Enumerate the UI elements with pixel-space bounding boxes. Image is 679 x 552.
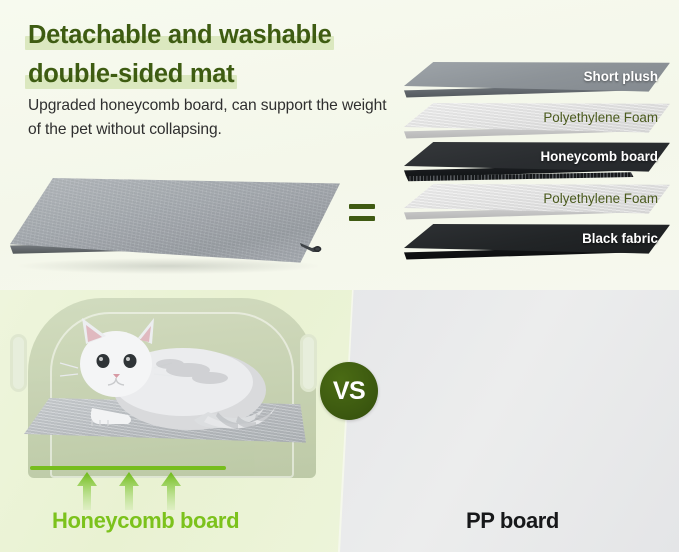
up-arrow-icon — [118, 472, 140, 510]
caption-pp-board: PP board — [466, 508, 666, 534]
mat-plush-texture — [10, 178, 340, 270]
layer-label: Honeycomb board — [540, 149, 658, 165]
carrier-handle-right — [300, 334, 317, 392]
straight-support-line-icon — [30, 466, 226, 470]
infographic-page: Detachable and washable double-sided mat… — [0, 0, 679, 552]
headline-line-2: double-sided mat — [28, 55, 234, 94]
support-arrows-up — [30, 466, 230, 512]
headline-line-1-text: Detachable and washable — [28, 21, 331, 49]
equals-bar-bottom — [349, 216, 375, 221]
headline-line-2-text: double-sided mat — [28, 60, 234, 88]
layer-black-fabric: Black fabric — [404, 224, 670, 280]
vs-badge: VS — [320, 362, 378, 420]
up-arrow-icon — [160, 472, 182, 510]
top-section: Detachable and washable double-sided mat… — [0, 0, 679, 290]
white-tabby-cat-icon — [58, 316, 280, 438]
carrier-handle-left — [10, 334, 27, 392]
headline: Detachable and washable double-sided mat — [28, 16, 408, 94]
subcopy-text: Upgraded honeycomb board, can support th… — [28, 94, 388, 143]
layer-label: Short plush — [584, 69, 658, 85]
layer-label: Black fabric — [582, 231, 658, 247]
equals-sign-icon — [349, 204, 375, 226]
product-mat-illustration — [10, 178, 340, 283]
layer-label: Polyethylene Foam — [543, 191, 658, 207]
mat-drop-shadow — [18, 258, 318, 274]
layer-label: Polyethylene Foam — [543, 110, 658, 126]
zipper-pull-icon — [299, 239, 323, 256]
caption-honeycomb-board: Honeycomb board — [52, 508, 302, 534]
headline-line-1: Detachable and washable — [28, 16, 331, 55]
layer-stack-diagram: Short plush Polyethylene Foam Honeycomb … — [404, 62, 670, 274]
equals-bar-top — [349, 204, 375, 209]
up-arrow-icon — [76, 472, 98, 510]
